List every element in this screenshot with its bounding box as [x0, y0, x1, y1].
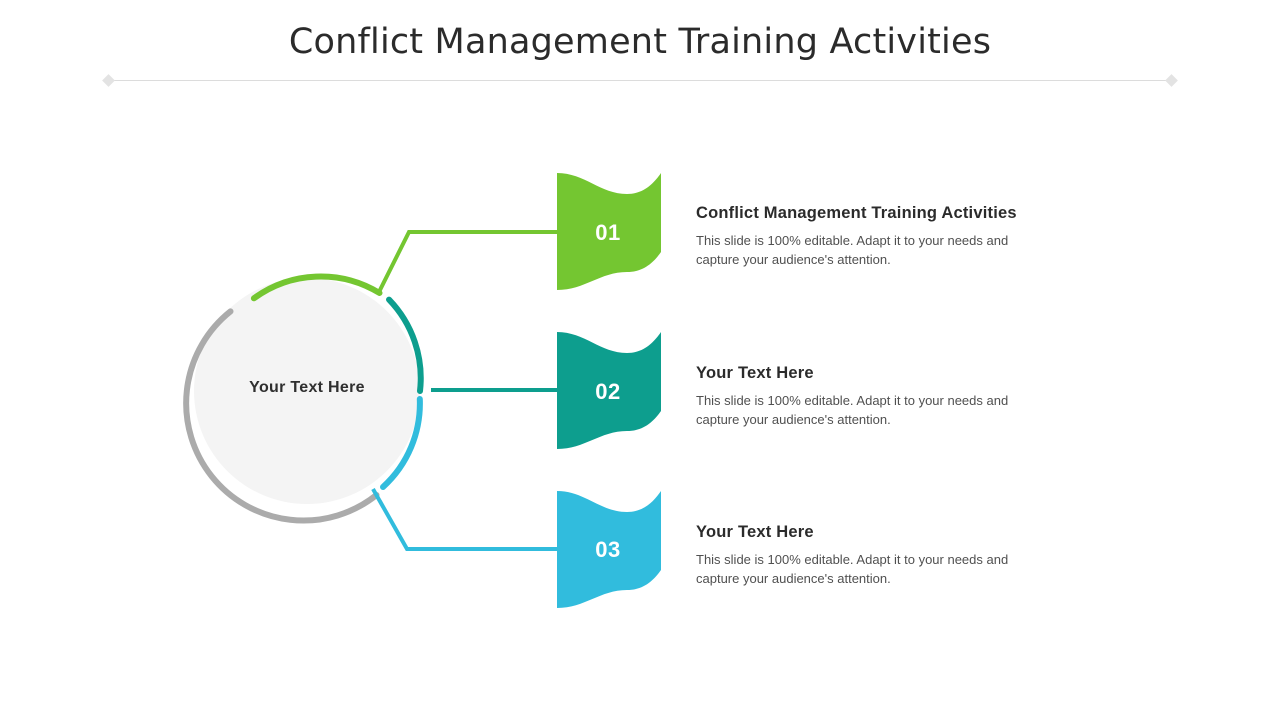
item-text-block-03: Your Text Here This slide is 100% editab…: [696, 523, 1096, 588]
item-text-block-01: Conflict Management Training Activities …: [696, 204, 1096, 269]
divider-dot-right-icon: [1165, 74, 1178, 87]
item-heading-03: Your Text Here: [696, 523, 1096, 543]
title-divider: [108, 80, 1172, 81]
divider-dot-left-icon: [102, 74, 115, 87]
connector-line-01: [378, 232, 560, 294]
circle-arc-gray: [186, 311, 376, 520]
card-number-01: 01: [553, 220, 663, 246]
item-body-03: This slide is 100% editable. Adapt it to…: [696, 550, 1026, 588]
card-number-02: 02: [553, 379, 663, 405]
item-text-block-02: Your Text Here This slide is 100% editab…: [696, 364, 1096, 429]
item-body-01: This slide is 100% editable. Adapt it to…: [696, 231, 1026, 269]
circle-arc-green: [254, 276, 380, 298]
page-title-text: Conflict Management Training Activities: [0, 22, 1280, 62]
item-body-02: This slide is 100% editable. Adapt it to…: [696, 391, 1026, 429]
center-circle-label: Your Text Here: [197, 379, 417, 397]
slide-canvas: Conflict Management Training Activities: [0, 0, 1280, 720]
circle-arc-cyan: [383, 399, 420, 487]
circle-arc-teal: [389, 300, 421, 391]
card-number-03: 03: [553, 537, 663, 563]
page-title: Conflict Management Training Activities: [0, 22, 1280, 62]
connector-line-03: [373, 489, 560, 549]
item-heading-01: Conflict Management Training Activities: [696, 204, 1096, 224]
process-diagram: [0, 0, 1280, 720]
item-heading-02: Your Text Here: [696, 364, 1096, 384]
